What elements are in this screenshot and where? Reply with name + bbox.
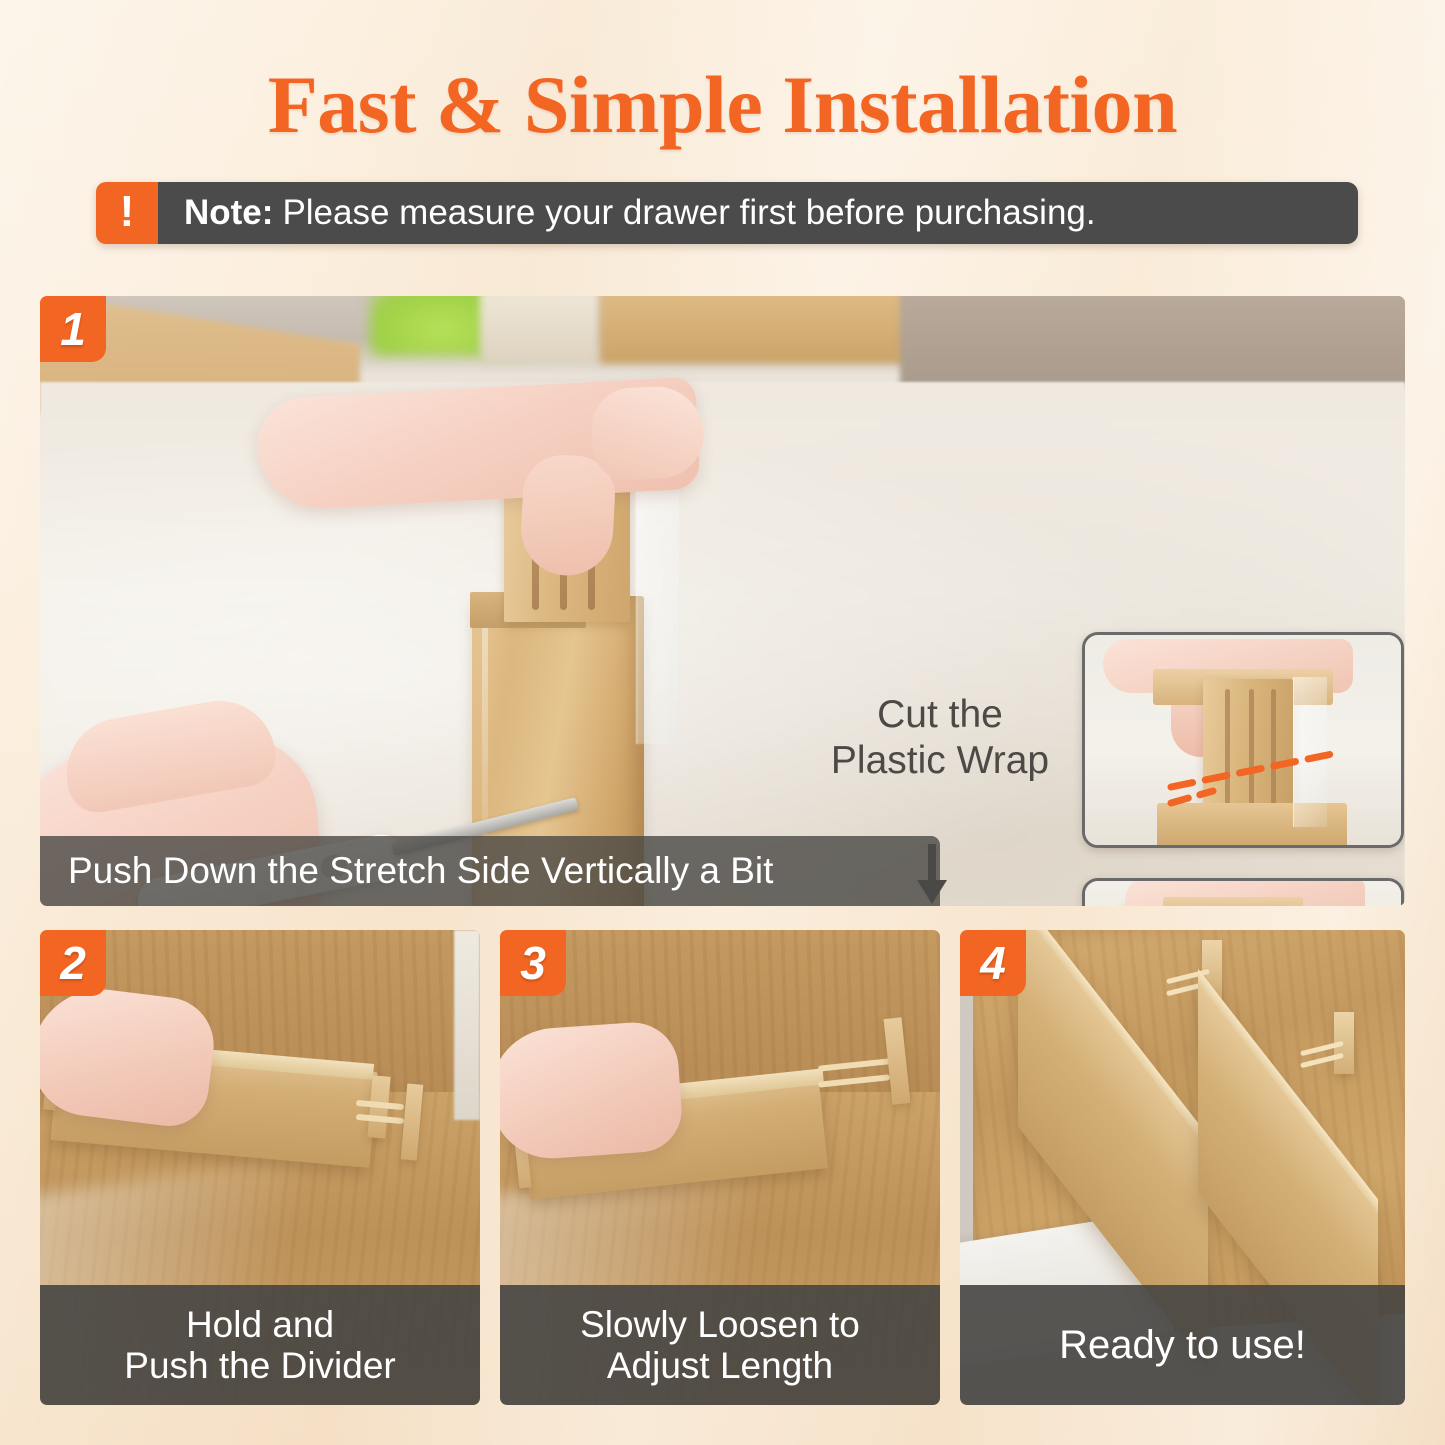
note-text: Note: Please measure your drawer first b… xyxy=(158,182,1358,244)
step-badge-3: 3 xyxy=(500,930,566,996)
caption-line-1: Ready to use! xyxy=(1059,1323,1306,1368)
step-panel-2: 2 Hold and Push the Divider xyxy=(40,930,480,1405)
step-panel-3: 3 Slowly Loosen to Adjust Length xyxy=(500,930,940,1405)
hand-loosening-divider xyxy=(500,1020,684,1163)
caption-line-1: Slowly Loosen to xyxy=(580,1304,860,1345)
step-panel-4: 4 Ready to use! xyxy=(960,930,1405,1405)
step-badge-4: 4 xyxy=(960,930,1026,996)
caption-line-2: Push the Divider xyxy=(124,1345,395,1386)
exclamation-icon: ! xyxy=(96,182,158,244)
overlay-text-cut: Cut the Plastic Wrap xyxy=(800,692,1080,784)
caption-line-2: Adjust Length xyxy=(607,1345,833,1386)
page-title: Fast & Simple Installation xyxy=(0,58,1445,152)
step-badge-1: 1 xyxy=(40,296,106,362)
counter-edge xyxy=(900,296,1405,386)
drawer-rail xyxy=(454,930,480,1120)
cut-line-inset xyxy=(1082,632,1404,848)
hand-pressing xyxy=(255,377,700,512)
caption-line-1: Hold and xyxy=(186,1304,334,1345)
step-2-caption: Hold and Push the Divider xyxy=(40,1285,480,1405)
inset-divider-cap xyxy=(1163,897,1303,906)
overlay-line-1: Cut the xyxy=(800,692,1080,738)
plant-pot-blur xyxy=(480,296,600,364)
step-badge-2: 2 xyxy=(40,930,106,996)
release-inset xyxy=(1082,878,1404,906)
step-3-caption: Slowly Loosen to Adjust Length xyxy=(500,1285,940,1405)
note-message: Please measure your drawer first before … xyxy=(282,193,1095,233)
overlay-line-2: Plastic Wrap xyxy=(800,738,1080,784)
step-1-caption: Push Down the Stretch Side Vertically a … xyxy=(40,836,940,906)
step-4-caption: Ready to use! xyxy=(960,1285,1405,1405)
note-label: Note: xyxy=(184,193,273,233)
thumb xyxy=(519,453,617,578)
fingers xyxy=(589,384,706,482)
note-banner: ! Note: Please measure your drawer first… xyxy=(96,182,1358,244)
orange-dashed-cut-line-icon xyxy=(1085,635,1404,848)
step-panel-1: Cut the Plastic Wrap Release the Stretch… xyxy=(40,296,1405,906)
